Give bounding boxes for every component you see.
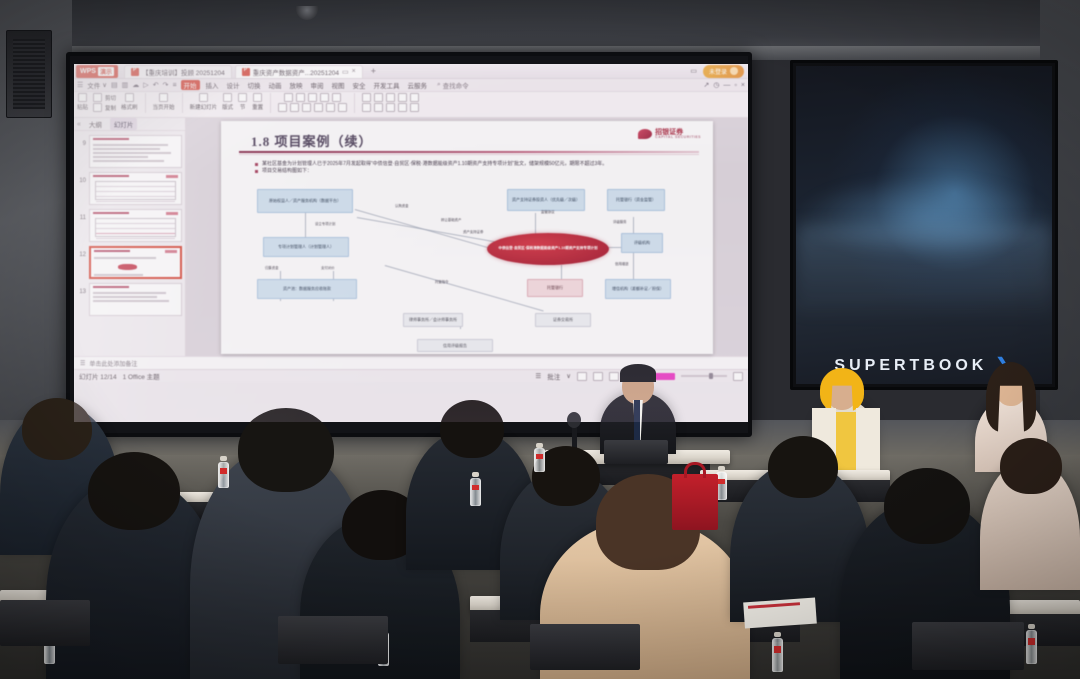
wps-ribbon-tabs[interactable]: ☰ 文件 ∨ ▤ ▥ ☁ ▷ ↶ ↷ ≡ 开始 插入 (74, 79, 748, 92)
conference-room-photo: SUPERTBOOK❯ WPS 演示 【重庆培训】投顾 20251204 (0, 0, 1080, 679)
decrease-indent-icon (386, 93, 395, 102)
account-label: 未登录 (709, 67, 727, 76)
attendee-head-5 (440, 400, 504, 458)
document-tab-1-title: 【重庆培训】投顾 20251204 (142, 67, 225, 77)
increase-indent-icon (398, 93, 407, 102)
wps-logo: WPS 演示 (76, 65, 118, 78)
wps-main-body: « 大纲 幻灯片 9 (74, 118, 748, 356)
slide-thumbnail-12[interactable]: 12 (74, 244, 185, 281)
align-center-icon (374, 103, 383, 112)
edge-label: 设立专项计划 (315, 221, 335, 226)
logo-text: 招银证券 CAPITAL SECURITIES (655, 129, 701, 140)
font-controls-row-2[interactable] (278, 103, 347, 112)
tab-comment-icon[interactable]: ▭ (342, 68, 349, 76)
document-tab-1[interactable]: 【重庆培训】投顾 20251204 (124, 65, 232, 78)
slide-number: 11 (77, 209, 86, 221)
reset-icon (253, 93, 262, 102)
paste-icon (78, 93, 87, 102)
font-name-icon (284, 93, 293, 102)
ribbon-tab-design[interactable]: 设计 (225, 80, 242, 90)
slide-bullet-list[interactable]: 某社区基金为计划管理人已于2025年7月发起取得“中债信登·自贸区·保税·港数据… (255, 161, 695, 176)
ribbon-tab-cloud-service[interactable]: 云服务 (406, 80, 430, 90)
slide-number: 9 (77, 135, 86, 147)
wps-title-bar: WPS 演示 【重庆培训】投顾 20251204 重庆资产数据资产...2025… (74, 64, 748, 79)
strikethrough-icon (314, 103, 323, 112)
slide-navigator-panel[interactable]: « 大纲 幻灯片 9 (74, 118, 186, 356)
reading-view-button[interactable] (609, 372, 619, 381)
tool-format-brush[interactable]: 格式刷 (121, 93, 138, 111)
edge-label: 信用增进 (615, 261, 629, 266)
new-tab-button[interactable]: + (366, 66, 381, 76)
tool-layout[interactable]: 版式 (222, 93, 233, 111)
slide-preview-selected[interactable] (89, 246, 182, 279)
italic-icon (290, 103, 299, 112)
slide-preview[interactable] (89, 209, 182, 242)
wps-logo-text: WPS (80, 68, 96, 75)
edge-label: 支付对价 (321, 265, 335, 270)
water-bottle (218, 462, 229, 488)
share-icon[interactable]: ↗ (703, 81, 709, 89)
tab-outline[interactable]: 大纲 (85, 118, 106, 130)
slide-number: 13 (77, 283, 86, 295)
attendee-head-10 (1000, 438, 1062, 494)
edge-label: 托管指令 (435, 279, 449, 284)
diagram-node-exchange[interactable]: 证券交易所 (535, 313, 591, 327)
tool-new-slide-label: 新建幻灯片 (190, 103, 218, 111)
attendee-head-8 (768, 436, 838, 498)
water-bottle (534, 448, 545, 472)
tool-cut-label: 剪切 (105, 94, 116, 102)
logo-subtitle: CAPITAL SECURITIES (655, 136, 701, 140)
laptop-device (912, 622, 1024, 670)
connector-line (535, 213, 536, 235)
text-shadow-icon (326, 103, 335, 112)
print-icon[interactable]: ▥ (122, 81, 129, 89)
notes-icon: ☰ (80, 360, 85, 367)
bold-icon (278, 103, 287, 112)
normal-view-button[interactable] (577, 372, 587, 381)
tool-format-brush-label: 格式刷 (121, 103, 138, 111)
edge-label: 资产支持证券 (463, 229, 483, 234)
slide-editing-stage[interactable]: 1.8 项目案例（续） 招银证券 CAPITAL SECURITIES (186, 118, 748, 356)
slide-title[interactable]: 1.8 项目案例（续） (251, 131, 373, 150)
align-right-icon (386, 103, 395, 112)
underline-icon (302, 103, 311, 112)
slide-counter: 幻灯片 12/14 (79, 371, 117, 381)
cloud-icon[interactable]: ☁ (132, 81, 139, 89)
side-display-panel (790, 60, 1058, 390)
file-menu-label: 文件 (87, 80, 100, 90)
presenter-laptop (604, 440, 668, 464)
toolbar-divider (270, 93, 271, 113)
company-logo: 招银证券 CAPITAL SECURITIES (638, 129, 701, 140)
slide-preview[interactable] (89, 172, 182, 205)
diagram-node-rating-report[interactable]: 信用评级报告 (417, 339, 493, 352)
connector-line (633, 217, 634, 233)
document-tab-2[interactable]: 重庆资产数据资产...20251204 ▭ × (235, 65, 363, 78)
notes-placeholder: 单击此处添加备注 (89, 359, 137, 368)
toolbar-divider (354, 93, 355, 113)
ribbon-tab-review[interactable]: 审阅 (309, 80, 326, 90)
save-icon[interactable]: ▤ (111, 81, 118, 89)
slide-number: 12 (77, 246, 86, 258)
paragraph-row-2[interactable] (362, 103, 419, 112)
tool-reset[interactable]: 重置 (252, 93, 263, 111)
start-show-icon (159, 93, 168, 102)
attendee-jacket-right-1b (856, 408, 880, 470)
handout-paper (743, 598, 817, 629)
cut-icon (93, 93, 102, 102)
font-grow-icon (308, 93, 317, 102)
sorter-view-button[interactable] (593, 372, 603, 381)
slide-thumbnail-list[interactable]: 9 10 (74, 131, 185, 356)
slide-preview[interactable] (89, 283, 182, 316)
slide-thumbnail-13[interactable]: 13 (74, 281, 185, 318)
tool-paste[interactable]: 粘贴 (77, 93, 88, 111)
search-placeholder: 查找命令 (443, 80, 469, 90)
diagram-node-law-firm[interactable]: 律师事务所／会计师事务所 (403, 313, 463, 327)
edge-label: 转让基础资产 (441, 217, 461, 222)
tool-layout-label: 版式 (222, 103, 233, 111)
presenter-tie (634, 400, 640, 442)
side-display-screen (796, 66, 1052, 384)
diagram-node-originator[interactable]: 原始权益人／资产服务机构（数据平台） (257, 189, 353, 213)
bullet-text: 项目交易结构图如下： (262, 168, 312, 175)
zoom-slider-handle[interactable] (709, 373, 713, 379)
format-brush-icon (125, 93, 134, 102)
diagram-node-plan-manager[interactable]: 专项计划管理人（计划管理人） (263, 237, 349, 257)
slide-preview[interactable] (89, 135, 182, 168)
tool-start-show-label: 当页开始 (153, 103, 175, 111)
diagram-node-credit-enhancer[interactable]: 增信机构（差额补足／担保） (605, 279, 671, 299)
current-slide[interactable]: 1.8 项目案例（续） 招银证券 CAPITAL SECURITIES (221, 121, 713, 354)
collapse-panel-icon[interactable]: « (77, 121, 81, 128)
line-spacing-icon (410, 93, 419, 102)
attendee-head-1 (22, 398, 92, 460)
font-shrink-icon (320, 93, 329, 102)
layout-icon (223, 93, 232, 102)
more-icon[interactable]: ≡ (172, 82, 176, 89)
ribbon-tab-transition[interactable]: 切换 (246, 80, 263, 90)
window-minimize-icon[interactable]: — (723, 82, 730, 89)
redo-icon[interactable]: ↷ (163, 81, 169, 89)
slide-thumbnail-11[interactable]: 11 (74, 207, 185, 244)
title-divider (239, 151, 699, 154)
wall-speaker (6, 30, 52, 118)
menu-hamburger-icon[interactable]: ☰ (77, 81, 83, 89)
tool-copy-label: 复制 (105, 104, 116, 112)
clear-format-icon (332, 93, 341, 102)
laptop-device (0, 600, 90, 646)
water-bottle-cap (718, 466, 725, 471)
microphone-head (567, 412, 581, 428)
ribbon-tab-developer[interactable]: 开发工具 (372, 80, 402, 90)
tool-section-label: 节 (240, 103, 246, 111)
text-direction-icon (410, 103, 419, 112)
tool-paragraph-group[interactable] (362, 93, 419, 112)
section-icon (238, 93, 247, 102)
tab-slides[interactable]: 幻灯片 (110, 118, 138, 130)
edge-label: 归集资金 (265, 265, 279, 270)
document-tab-2-title: 重庆资产数据资产...20251204 (253, 67, 339, 77)
tab-close-icon[interactable]: × (352, 68, 356, 75)
red-handbag (672, 474, 718, 530)
logo-mark-icon (638, 129, 652, 139)
diagram-node-asset-pool[interactable]: 资产池：数据服务应收账款 (257, 279, 357, 299)
ribbon-tab-start[interactable]: 开始 (181, 80, 200, 90)
wps-ribbon-toolbar[interactable]: 粘贴 剪切 复制 (74, 92, 748, 118)
chevron-down-icon: ∨ (102, 81, 107, 89)
search-icon: ⌕ (437, 81, 441, 89)
ribbon-tab-animation[interactable]: 动画 (267, 80, 284, 90)
undo-icon[interactable]: ↶ (153, 81, 159, 89)
align-left-icon (362, 103, 371, 112)
paragraph-row-1[interactable] (362, 93, 419, 102)
ribbon-tab-slideshow[interactable]: 放映 (288, 80, 305, 90)
fit-slide-button[interactable] (733, 372, 743, 381)
comment-status-label[interactable]: 批注 (547, 371, 560, 381)
chevron-down-icon[interactable]: ∨ (566, 372, 571, 380)
font-size-icon (296, 93, 305, 102)
window-close-icon[interactable]: × (741, 82, 745, 89)
tool-font-group[interactable] (278, 93, 347, 112)
handbag-handle (684, 462, 706, 478)
font-color-icon (338, 103, 347, 112)
attendee-head-3 (238, 408, 334, 492)
display-brand-text: SUPERTBOOK (834, 357, 987, 374)
tool-section[interactable]: 节 (238, 93, 247, 111)
water-bottle (772, 638, 783, 672)
slide-thumbnail-10[interactable]: 10 (74, 170, 185, 207)
ribbon-tab-view[interactable]: 视图 (330, 80, 347, 90)
align-justify-icon (398, 103, 407, 112)
comment-status-icon[interactable]: ☰ (535, 372, 541, 380)
edge-label: 监管协议 (541, 209, 555, 214)
diagram-node-rating-agency[interactable]: 评级机构 (621, 233, 663, 253)
zoom-slider[interactable] (681, 375, 727, 377)
account-button[interactable]: 未登录 (703, 65, 744, 78)
file-menu-button[interactable]: 文件 ∨ (87, 80, 107, 90)
bullet-text: 某社区基金为计划管理人已于2025年7月发起取得“中债信登·自贸区·保税·港数据… (262, 161, 607, 168)
copy-icon (93, 103, 102, 112)
font-controls-row-1[interactable] (284, 93, 341, 102)
diagram-node-investors[interactable]: 资产支持证券投资人（优先级／次级） (507, 189, 585, 211)
new-slide-icon (199, 93, 208, 102)
attendee-head-9 (884, 468, 970, 544)
slide-number: 10 (77, 172, 86, 184)
water-bottle-cap (472, 472, 479, 477)
water-bottle-cap (220, 456, 227, 461)
tool-reset-label: 重置 (252, 103, 263, 111)
transaction-structure-diagram[interactable]: 原始权益人／资产服务机构（数据平台） 资产支持证券投资人（优先级／次级） 托管银… (235, 187, 703, 346)
tool-clipboard-group[interactable]: 剪切 复制 (93, 93, 116, 112)
laptop-device (278, 616, 388, 664)
window-restore-icon[interactable]: ▫ (734, 82, 736, 89)
title-divider-thin (239, 154, 699, 155)
slide-thumbnail-9[interactable]: 9 (74, 133, 185, 170)
water-bottle (470, 478, 481, 506)
edge-label: 认购资金 (395, 203, 409, 208)
bullet-item: 项目交易结构图如下： (255, 168, 695, 175)
wps-mode-text: 演示 (98, 67, 114, 76)
theme-label: 1 Office 主题 (123, 371, 160, 381)
display-wallpaper-band (796, 225, 1052, 320)
user-icon (730, 67, 738, 75)
bullet-marker-icon (255, 163, 258, 166)
diagram-node-spv[interactable]: 中债信登·自贸区·保税港数据能级资产1.10期资产支持专项计划 (487, 233, 609, 265)
presentation-file-icon (242, 68, 250, 76)
diagram-node-custodian-bank[interactable]: 托管银行（资金监管） (607, 189, 665, 211)
toolbar-divider (182, 93, 183, 113)
tool-cut-row[interactable]: 剪切 (93, 93, 116, 102)
toolbar-divider (145, 93, 146, 113)
navigator-tabs[interactable]: « 大纲 幻灯片 (74, 118, 185, 131)
presentation-file-icon (131, 68, 139, 76)
diagram-node-trustee[interactable]: 托管银行 (527, 279, 583, 297)
laptop-device (530, 624, 640, 670)
presenter-hair (620, 364, 656, 382)
collaborate-icon[interactable]: ◷ (713, 81, 719, 89)
water-bottle (1026, 630, 1037, 664)
bullet-list-icon (362, 93, 371, 102)
tool-paste-label: 粘贴 (77, 103, 88, 111)
play-icon[interactable]: ▷ (143, 81, 148, 89)
water-bottle-cap (1028, 624, 1035, 629)
numbered-list-icon (374, 93, 383, 102)
tool-new-slide[interactable]: 新建幻灯片 (190, 93, 218, 111)
ribbon-tab-security[interactable]: 安全 (351, 80, 368, 90)
connector-line (385, 265, 544, 311)
edge-label: 评级服务 (613, 219, 627, 224)
bullet-item: 某社区基金为计划管理人已于2025年7月发起取得“中债信登·自贸区·保税·港数据… (255, 161, 695, 168)
comment-button[interactable]: ▭ (687, 67, 700, 75)
water-bottle-cap (774, 632, 781, 637)
attendee-head-2 (88, 452, 180, 530)
water-bottle-cap (536, 443, 543, 448)
bullet-marker-icon (255, 170, 258, 173)
ribbon-tab-insert[interactable]: 插入 (204, 80, 221, 90)
tool-copy-row[interactable]: 复制 (93, 103, 116, 112)
tool-start-show[interactable]: 当页开始 (153, 93, 175, 111)
search-box[interactable]: ⌕ 查找命令 (437, 80, 469, 90)
